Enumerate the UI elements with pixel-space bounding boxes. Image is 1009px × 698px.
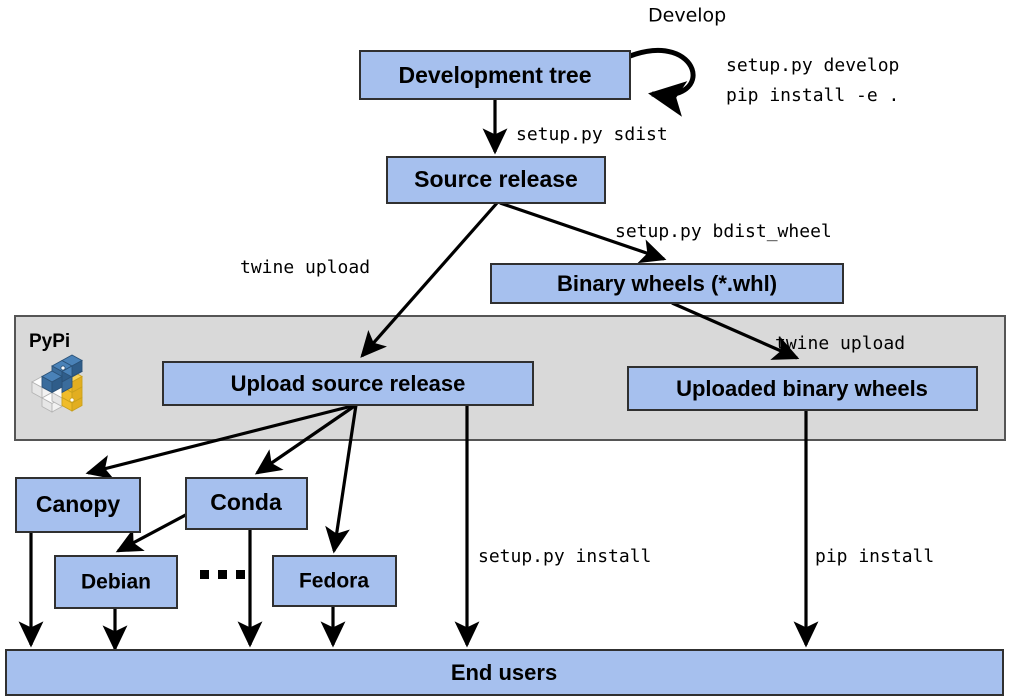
ellipsis-icon xyxy=(200,570,245,579)
edge-label-pip-install: pip install xyxy=(815,546,934,567)
edge-label-twine-upload-source: twine upload xyxy=(240,257,370,278)
edge-label-setup-develop: setup.py develop xyxy=(726,55,899,76)
node-end-users-label: End users xyxy=(451,660,557,685)
edge-label-setup-bdist-wheel: setup.py bdist_wheel xyxy=(615,221,832,242)
edge-label-pip-install-editable: pip install -e . xyxy=(726,85,899,106)
node-conda[interactable]: Conda xyxy=(186,478,307,529)
node-upload-source-release[interactable]: Upload source release xyxy=(163,362,533,405)
edge-label-setup-install: setup.py install xyxy=(478,546,651,567)
edge-label-develop: Develop xyxy=(648,5,726,27)
flow-diagram-canvas: Development tree Source release Binary w… xyxy=(0,0,1009,698)
node-source-release[interactable]: Source release xyxy=(387,157,605,203)
edge-label-twine-upload-wheels: twine upload xyxy=(775,333,905,354)
node-source-release-label: Source release xyxy=(414,166,578,192)
node-upload-source-release-label: Upload source release xyxy=(231,371,466,396)
packaging-flow-diagram: Development tree Source release Binary w… xyxy=(0,0,1009,698)
node-uploaded-binary-wheels-label: Uploaded binary wheels xyxy=(676,376,928,401)
edge-develop-self-loop xyxy=(630,50,693,95)
pypi-group-label: PyPi xyxy=(29,331,70,352)
node-binary-wheels-label: Binary wheels (*.whl) xyxy=(557,271,777,296)
node-uploaded-binary-wheels[interactable]: Uploaded binary wheels xyxy=(628,367,977,410)
node-debian-label: Debian xyxy=(81,571,151,594)
node-fedora-label: Fedora xyxy=(299,570,369,593)
node-debian[interactable]: Debian xyxy=(55,556,177,608)
edge-label-setup-sdist: setup.py sdist xyxy=(516,124,668,145)
node-binary-wheels[interactable]: Binary wheels (*.whl) xyxy=(491,264,843,303)
node-conda-label: Conda xyxy=(210,489,282,515)
node-end-users[interactable]: End users xyxy=(6,650,1003,695)
node-fedora[interactable]: Fedora xyxy=(273,556,396,606)
node-development-tree[interactable]: Development tree xyxy=(360,51,630,99)
node-canopy-label: Canopy xyxy=(36,491,121,517)
node-development-tree-label: Development tree xyxy=(398,62,591,88)
node-canopy[interactable]: Canopy xyxy=(16,478,140,532)
